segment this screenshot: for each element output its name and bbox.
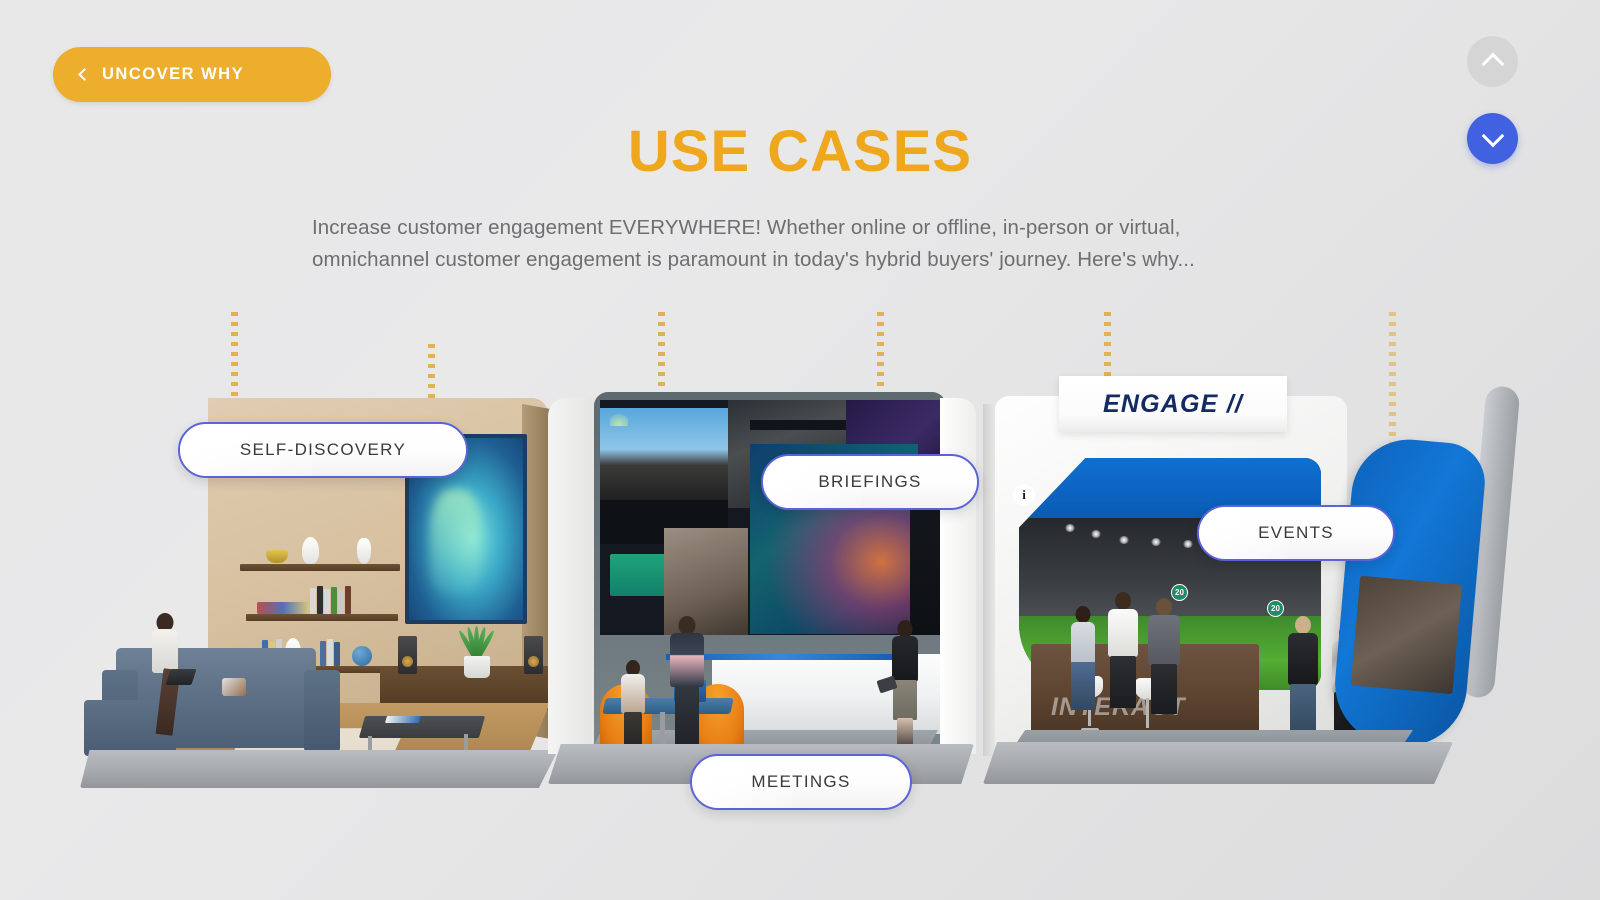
person-torso [1108, 609, 1138, 657]
engage-banner: ENGAGE // [1059, 376, 1287, 432]
label-pill-self-discovery-text: SELF-DISCOVERY [240, 440, 406, 460]
shelf-book [338, 590, 344, 614]
video-panel-text-strip [750, 420, 846, 430]
person-torso [892, 636, 918, 682]
shelf-book [327, 639, 333, 666]
person-legs [1110, 656, 1136, 708]
field-badge: 20 [1267, 600, 1284, 617]
interactive-kiosk[interactable] [1330, 435, 1488, 751]
person-head [1115, 592, 1131, 610]
label-pill-briefings-text: BRIEFINGS [818, 472, 921, 492]
wall-shelf [240, 564, 400, 571]
video-panel-green-card [610, 554, 670, 596]
laptop [165, 669, 196, 685]
person-legs [675, 686, 699, 746]
briefing-side-wall-right [940, 398, 976, 754]
shelf-book [331, 587, 337, 614]
table-magazine [385, 716, 421, 723]
person-head [1156, 598, 1172, 616]
video-panel-list [910, 498, 940, 635]
stadium-floodlight [1151, 538, 1161, 546]
person-torso [621, 674, 645, 714]
plant-pot [464, 656, 490, 678]
stadium-floodlight [1065, 524, 1075, 532]
person-standing-presenter [664, 616, 710, 748]
shelf-book [320, 641, 326, 666]
scene-platform [983, 742, 1453, 784]
kiosk-screen [1351, 576, 1462, 694]
stadium-floodlight [1183, 540, 1193, 548]
person-seated-visitor [616, 660, 650, 756]
sofa-arm [304, 670, 340, 752]
shelf-book [324, 589, 330, 614]
scene-events-booth[interactable]: 20 20 i ENGAGE // INTERACT [983, 390, 1493, 796]
engage-banner-text: ENGAGE // [1103, 390, 1243, 419]
person-torso [1071, 622, 1095, 664]
video-panel-sunrise-icon [610, 414, 628, 426]
person-head [1295, 616, 1311, 634]
scene-platform [80, 750, 558, 788]
wall-shelf [246, 614, 398, 621]
speaker [524, 636, 543, 674]
info-icon[interactable]: i [1013, 484, 1035, 506]
person-legs [1071, 662, 1095, 710]
scenes-container: 20 20 i ENGAGE // INTERACT [0, 0, 1600, 900]
person-torso [1288, 633, 1318, 685]
label-pill-briefings[interactable]: BRIEFINGS [761, 454, 979, 510]
label-pill-meetings[interactable]: MEETINGS [690, 754, 912, 810]
person-standing-host [886, 620, 924, 754]
person-at-bar [1065, 606, 1101, 714]
person-at-kiosk [1283, 616, 1323, 748]
label-pill-meetings-text: MEETINGS [751, 772, 850, 792]
shelf-objects [257, 602, 309, 614]
stadium-floodlight [1119, 536, 1129, 544]
shelf-book [334, 642, 340, 666]
decorative-vase [302, 537, 319, 564]
briefing-side-wall-left [548, 398, 600, 754]
shelf-book [310, 588, 316, 614]
person-torso [1148, 615, 1180, 665]
person-torso [152, 629, 178, 673]
decorative-sphere [352, 646, 372, 666]
label-pill-self-discovery[interactable]: SELF-DISCOVERY [178, 422, 468, 478]
person-head [1076, 606, 1091, 623]
potted-plant [448, 620, 504, 678]
person-seated [144, 613, 186, 743]
stadium-floodlight [1091, 530, 1101, 538]
label-pill-events[interactable]: EVENTS [1197, 505, 1395, 561]
decorative-vase [357, 538, 371, 564]
person-legs [1151, 664, 1177, 714]
label-pill-events-text: EVENTS [1258, 523, 1334, 543]
person-torso [670, 633, 704, 687]
video-wall [600, 400, 940, 635]
person-at-bar [1103, 592, 1143, 710]
throw-pillow [222, 678, 246, 696]
person-at-bar [1143, 598, 1185, 714]
scene-briefing-center[interactable] [548, 392, 976, 796]
shelf-book [317, 586, 323, 614]
shelf-book [345, 586, 351, 614]
speaker [398, 636, 417, 674]
